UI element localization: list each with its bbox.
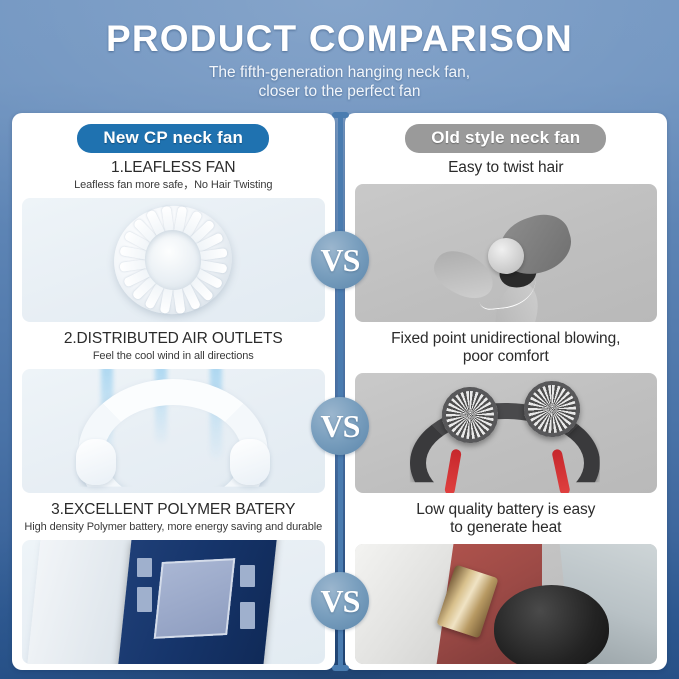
polymer-cell [154, 558, 235, 638]
image-old-neck-fan [355, 373, 658, 493]
left-row-3: 3.EXCELLENT POLYMER BATERY High density … [12, 499, 335, 670]
subtitle-line-2: closer to the perfect fan [0, 83, 679, 101]
white-cloth [355, 544, 454, 664]
vs-badge-2: VS [311, 397, 369, 455]
right-row-3-title-line-2: to generate heat [355, 519, 658, 537]
old-pill-wrap: Old style neck fan [345, 113, 668, 157]
right-row-2-title-line-2: poor comfort [355, 348, 658, 366]
left-row-3-title: 3.EXCELLENT POLYMER BATERY [22, 501, 325, 520]
left-row-2-title: 2.DISTRIBUTED AIR OUTLETS [22, 330, 325, 349]
right-row-2-head: Fixed point unidirectional blowing, poor… [355, 328, 658, 370]
page-title: PRODUCT COMPARISON [0, 18, 679, 59]
left-row-2-head: 2.DISTRIBUTED AIR OUTLETS Feel the cool … [22, 328, 325, 366]
neck-fan-pod-left [76, 439, 116, 485]
badge-new-neck-fan: New CP neck fan [77, 124, 269, 153]
left-row-1-head: 1.LEAFLESS FAN Leafless fan more safe，No… [22, 157, 325, 195]
poster-header: PRODUCT COMPARISON The fifth-generation … [0, 0, 679, 101]
left-row-1: 1.LEAFLESS FAN Leafless fan more safe，No… [12, 157, 335, 328]
right-row-3-title: Low quality battery is easy to generate … [355, 501, 658, 538]
vs-badge-3-label: VS [321, 585, 360, 617]
card-old-product: Old style neck fan Easy to twist hair [345, 113, 668, 670]
right-row-1-title: Easy to twist hair [355, 159, 658, 178]
right-row-2-title: Fixed point unidirectional blowing, poor… [355, 330, 658, 367]
left-row-1-subtitle: Leafless fan more safe，No Hair Twisting [22, 179, 325, 193]
vs-badge-1-label: VS [321, 244, 360, 276]
image-white-neck-fan [22, 369, 325, 493]
card-new-product: New CP neck fan 1.LEAFLESS FAN Leafless … [12, 113, 335, 670]
neck-fan-illustration [78, 379, 268, 493]
right-row-1: Easy to twist hair [345, 157, 668, 328]
badge-old-neck-fan: Old style neck fan [405, 124, 606, 153]
left-row-3-head: 3.EXCELLENT POLYMER BATERY High density … [22, 499, 325, 537]
right-row-2-title-line-1: Fixed point unidirectional blowing, [355, 330, 658, 348]
right-row-2: Fixed point unidirectional blowing, poor… [345, 328, 668, 499]
right-row-1-head: Easy to twist hair [355, 157, 658, 181]
hot-battery-illustration [355, 544, 658, 664]
right-row-3: Low quality battery is easy to generate … [345, 499, 668, 670]
left-row-2: 2.DISTRIBUTED AIR OUTLETS Feel the cool … [12, 328, 335, 499]
vs-badge-2-label: VS [321, 410, 360, 442]
black-fan-head [494, 585, 609, 664]
circuit-board-illustration [22, 540, 325, 664]
new-pill-wrap: New CP neck fan [12, 113, 335, 157]
image-hot-battery [355, 544, 658, 664]
left-row-3-subtitle: High density Polymer battery, more energ… [22, 521, 325, 535]
image-polymer-battery-board [22, 540, 325, 664]
old-neck-fan-illustration [406, 385, 606, 493]
right-row-3-title-line-1: Low quality battery is easy [355, 501, 658, 519]
image-propeller-hair [355, 184, 658, 322]
propeller-illustration [436, 201, 576, 311]
left-row-1-title: 1.LEAFLESS FAN [22, 159, 325, 178]
product-comparison-poster: PRODUCT COMPARISON The fifth-generation … [0, 0, 679, 679]
vs-badge-3: VS [311, 572, 369, 630]
old-fan-head-right [524, 381, 580, 437]
old-fan-head-left [442, 387, 498, 443]
turbine-illustration [107, 198, 239, 321]
right-row-3-head: Low quality battery is easy to generate … [355, 499, 658, 541]
image-leafless-turbine [22, 198, 325, 322]
left-row-2-subtitle: Feel the cool wind in all directions [22, 350, 325, 364]
neck-fan-pod-right [230, 439, 270, 485]
vs-badge-1: VS [311, 231, 369, 289]
subtitle-line-1: The fifth-generation hanging neck fan, [0, 64, 679, 82]
page-subtitle: The fifth-generation hanging neck fan, c… [0, 64, 679, 101]
